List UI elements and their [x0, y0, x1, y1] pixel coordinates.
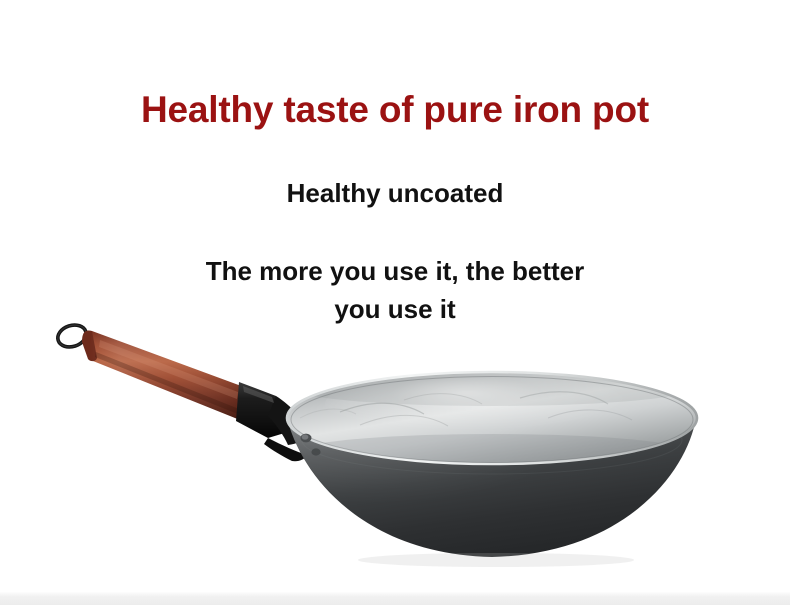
subheading-secondary-line-2: you use it [0, 291, 790, 329]
wooden-handle-icon [82, 331, 244, 420]
metal-bracket-icon [236, 382, 312, 461]
page-title: Healthy taste of pure iron pot [0, 89, 790, 132]
bottom-shelf-strip [0, 592, 790, 605]
wok-bowl-icon [230, 360, 697, 557]
subheading-secondary-line-1: The more you use it, the better [0, 253, 790, 291]
product-banner: Healthy taste of pure iron pot Healthy u… [0, 0, 790, 605]
subheading-primary: Healthy uncoated [0, 178, 790, 209]
product-shadow [358, 553, 634, 567]
subheading-secondary: The more you use it, the better you use … [0, 253, 790, 328]
